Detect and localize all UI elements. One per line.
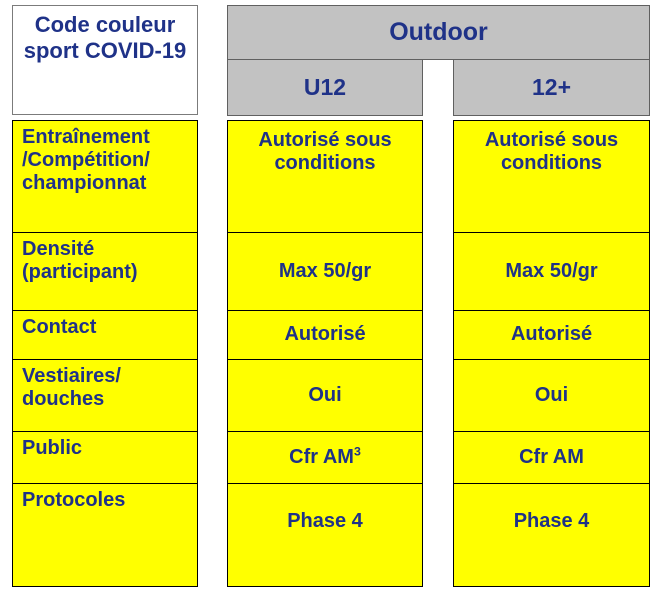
row-label-entrainement-text: Entraînement /Compétition/ championnat xyxy=(22,126,197,196)
cell-u12-contact-text: Autorisé xyxy=(284,323,365,346)
cell-u12-entrainement: Autorisé sous conditions xyxy=(227,120,423,233)
cell-u12-public-text: Cfr AM3 xyxy=(289,446,361,469)
row-label-densite-text: Densité (participant) xyxy=(22,238,197,284)
cell-u12-densite: Max 50/gr xyxy=(227,233,423,311)
row-label-contact: Contact xyxy=(12,311,198,360)
column-header-u12-label: U12 xyxy=(304,74,346,101)
row-label-protocoles: Protocoles xyxy=(12,484,198,587)
row-label-vestiaires-text: Vestiaires/ douches xyxy=(22,365,197,411)
cell-u12-densite-text: Max 50/gr xyxy=(279,260,371,283)
cell-12plus-public: Cfr AM xyxy=(453,432,650,484)
covid-sport-color-code-table: Code couleur sport COVID-19 Outdoor U12 … xyxy=(0,0,662,593)
cell-u12-public-base: Cfr AM xyxy=(289,446,354,468)
cell-u12-public-footnote-marker: 3 xyxy=(354,444,361,458)
table-title-text: Code couleur sport COVID-19 xyxy=(13,12,197,63)
row-label-public-text: Public xyxy=(22,437,197,460)
cell-u12-vestiaires: Oui xyxy=(227,360,423,432)
row-label-protocoles-text: Protocoles xyxy=(22,489,197,512)
row-label-public: Public xyxy=(12,432,198,484)
cell-12plus-public-text: Cfr AM xyxy=(519,446,584,469)
cell-u12-public: Cfr AM3 xyxy=(227,432,423,484)
cell-12plus-vestiaires-text: Oui xyxy=(535,384,568,407)
cell-u12-entrainement-text: Autorisé sous conditions xyxy=(234,129,416,175)
cell-12plus-protocoles: Phase 4 xyxy=(453,484,650,587)
row-label-vestiaires: Vestiaires/ douches xyxy=(12,360,198,432)
table-title-cell: Code couleur sport COVID-19 xyxy=(12,5,198,115)
row-label-entrainement: Entraînement /Compétition/ championnat xyxy=(12,120,198,233)
cell-12plus-densite: Max 50/gr xyxy=(453,233,650,311)
cell-12plus-contact-text: Autorisé xyxy=(511,323,592,346)
row-label-densite: Densité (participant) xyxy=(12,233,198,311)
group-header-outdoor-label: Outdoor xyxy=(389,18,488,47)
cell-12plus-protocoles-text: Phase 4 xyxy=(514,510,590,533)
cell-u12-protocoles-text: Phase 4 xyxy=(287,510,363,533)
cell-12plus-entrainement: Autorisé sous conditions xyxy=(453,120,650,233)
cell-12plus-vestiaires: Oui xyxy=(453,360,650,432)
cell-12plus-densite-text: Max 50/gr xyxy=(505,260,597,283)
column-header-u12: U12 xyxy=(227,60,423,116)
cell-u12-vestiaires-text: Oui xyxy=(308,384,341,407)
row-label-contact-text: Contact xyxy=(22,316,197,339)
column-header-12plus: 12+ xyxy=(453,60,650,116)
column-header-12plus-label: 12+ xyxy=(532,74,571,101)
cell-u12-contact: Autorisé xyxy=(227,311,423,360)
group-header-outdoor: Outdoor xyxy=(227,5,650,60)
cell-12plus-contact: Autorisé xyxy=(453,311,650,360)
cell-12plus-entrainement-text: Autorisé sous conditions xyxy=(460,129,643,175)
cell-u12-protocoles: Phase 4 xyxy=(227,484,423,587)
